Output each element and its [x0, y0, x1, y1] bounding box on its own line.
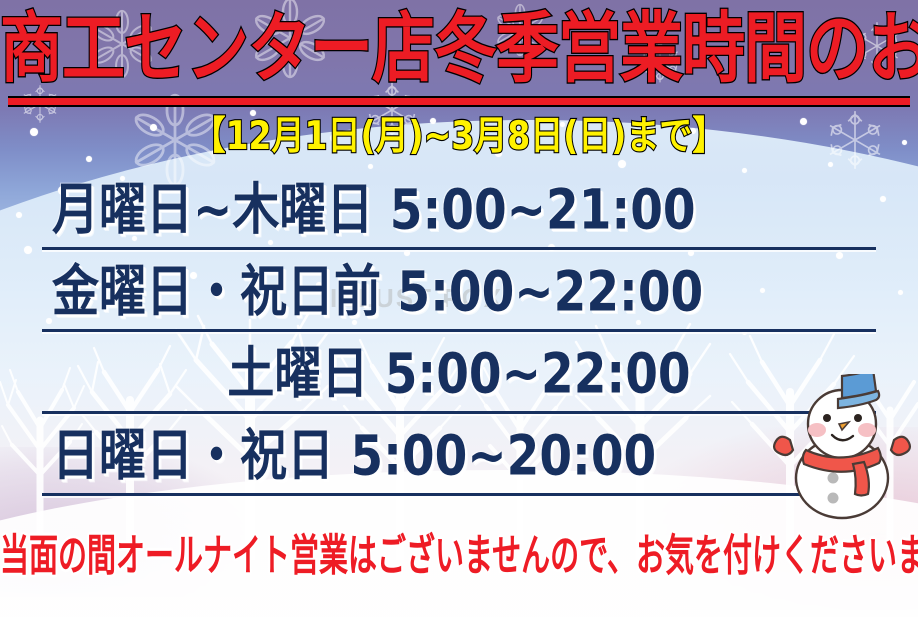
- title-underline-rule: [8, 96, 910, 107]
- hours-row-text: 月曜日~木曜日 5:00~21:00: [52, 172, 696, 250]
- snowman-cheek-right: [858, 423, 876, 437]
- snowman-button-bottom: [828, 493, 839, 504]
- hours-row-underline: [42, 411, 876, 414]
- hours-row-mon-thu: 月曜日~木曜日 5:00~21:00: [0, 172, 918, 254]
- poster-subtitle-container: 【12月1日(月)~3月8日(日)まで】: [0, 110, 918, 154]
- hours-row-text: 日曜日・祝日 5:00~20:00: [52, 418, 656, 496]
- hours-row-underline: [42, 493, 876, 496]
- date-range-subtitle: 【12月1日(月)~3月8日(日)まで】: [193, 110, 726, 162]
- snowman-cheek-left: [808, 423, 826, 437]
- snowman-eye-left: [823, 414, 831, 422]
- hours-row-text: 土曜日 5:00~22:00: [227, 336, 690, 414]
- winter-hours-poster: ILLUST POX 商工センター店冬季営業時間のお知らせ 【12月1日(月)~…: [0, 0, 918, 617]
- snowman-eye-right: [854, 414, 862, 422]
- hours-row-fri-preholiday: 金曜日・祝日前 5:00~22:00: [0, 254, 918, 336]
- poster-title-container: 商工センター店冬季営業時間のお知らせ: [0, 4, 918, 78]
- hours-row-underline: [42, 247, 876, 250]
- footer-note-container: 当面の間オールナイト営業はございませんので、お気を付けくださいませ。: [0, 524, 918, 566]
- hours-row-text: 金曜日・祝日前 5:00~22:00: [52, 254, 703, 332]
- snowman-hat: [838, 374, 879, 408]
- hours-row-underline: [42, 329, 876, 332]
- page-title: 商工センター店冬季営業時間のお知らせ: [0, 4, 918, 94]
- snowman-illustration: [772, 374, 912, 524]
- snowman-button-top: [828, 473, 839, 484]
- all-night-closure-note: 当面の間オールナイト営業はございませんので、お気を付けくださいませ。: [0, 524, 918, 587]
